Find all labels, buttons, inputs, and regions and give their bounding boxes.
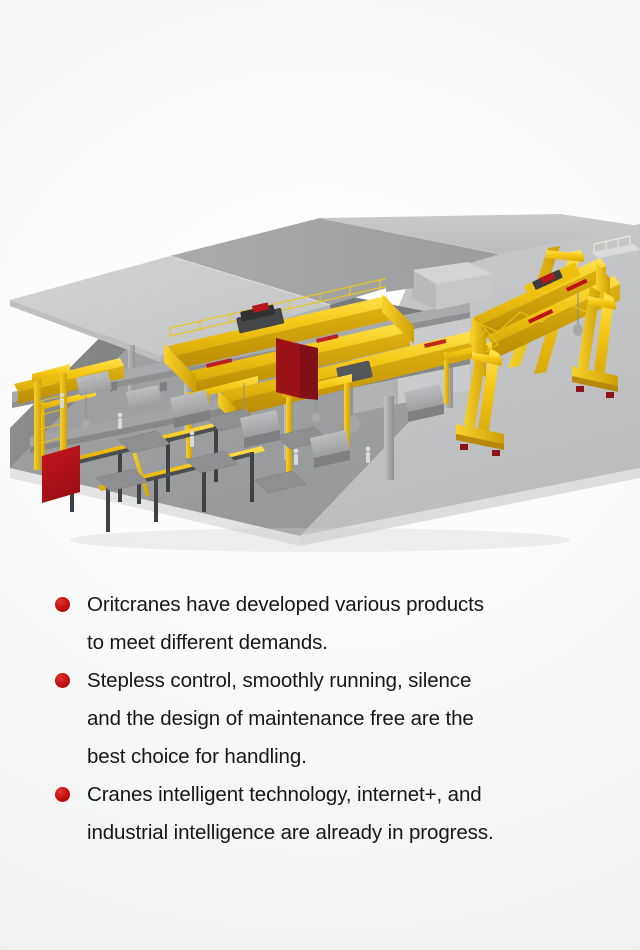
bullet-text-control: Stepless control, smoothly running, sile… <box>87 669 474 768</box>
bullet-dot-icon <box>55 787 70 802</box>
bullet-text-products: Oritcranes have developed various produc… <box>87 593 484 654</box>
bullet-dot-icon <box>55 597 70 612</box>
list-item: Oritcranes have developed various produc… <box>0 586 640 662</box>
page-root: Oritcranes have developed various produc… <box>0 0 640 950</box>
workshop-3d-svg <box>0 0 640 560</box>
red-wall-panel-interior <box>276 338 318 400</box>
bullet-text-intelligence: Cranes intelligent technology, internet+… <box>87 783 494 844</box>
list-item: Cranes intelligent technology, internet+… <box>0 776 640 852</box>
feature-bullet-list: Oritcranes have developed various produc… <box>0 586 640 852</box>
bullet-dot-icon <box>55 673 70 688</box>
list-item: Stepless control, smoothly running, sile… <box>0 662 640 776</box>
crane-workshop-illustration <box>0 0 640 560</box>
